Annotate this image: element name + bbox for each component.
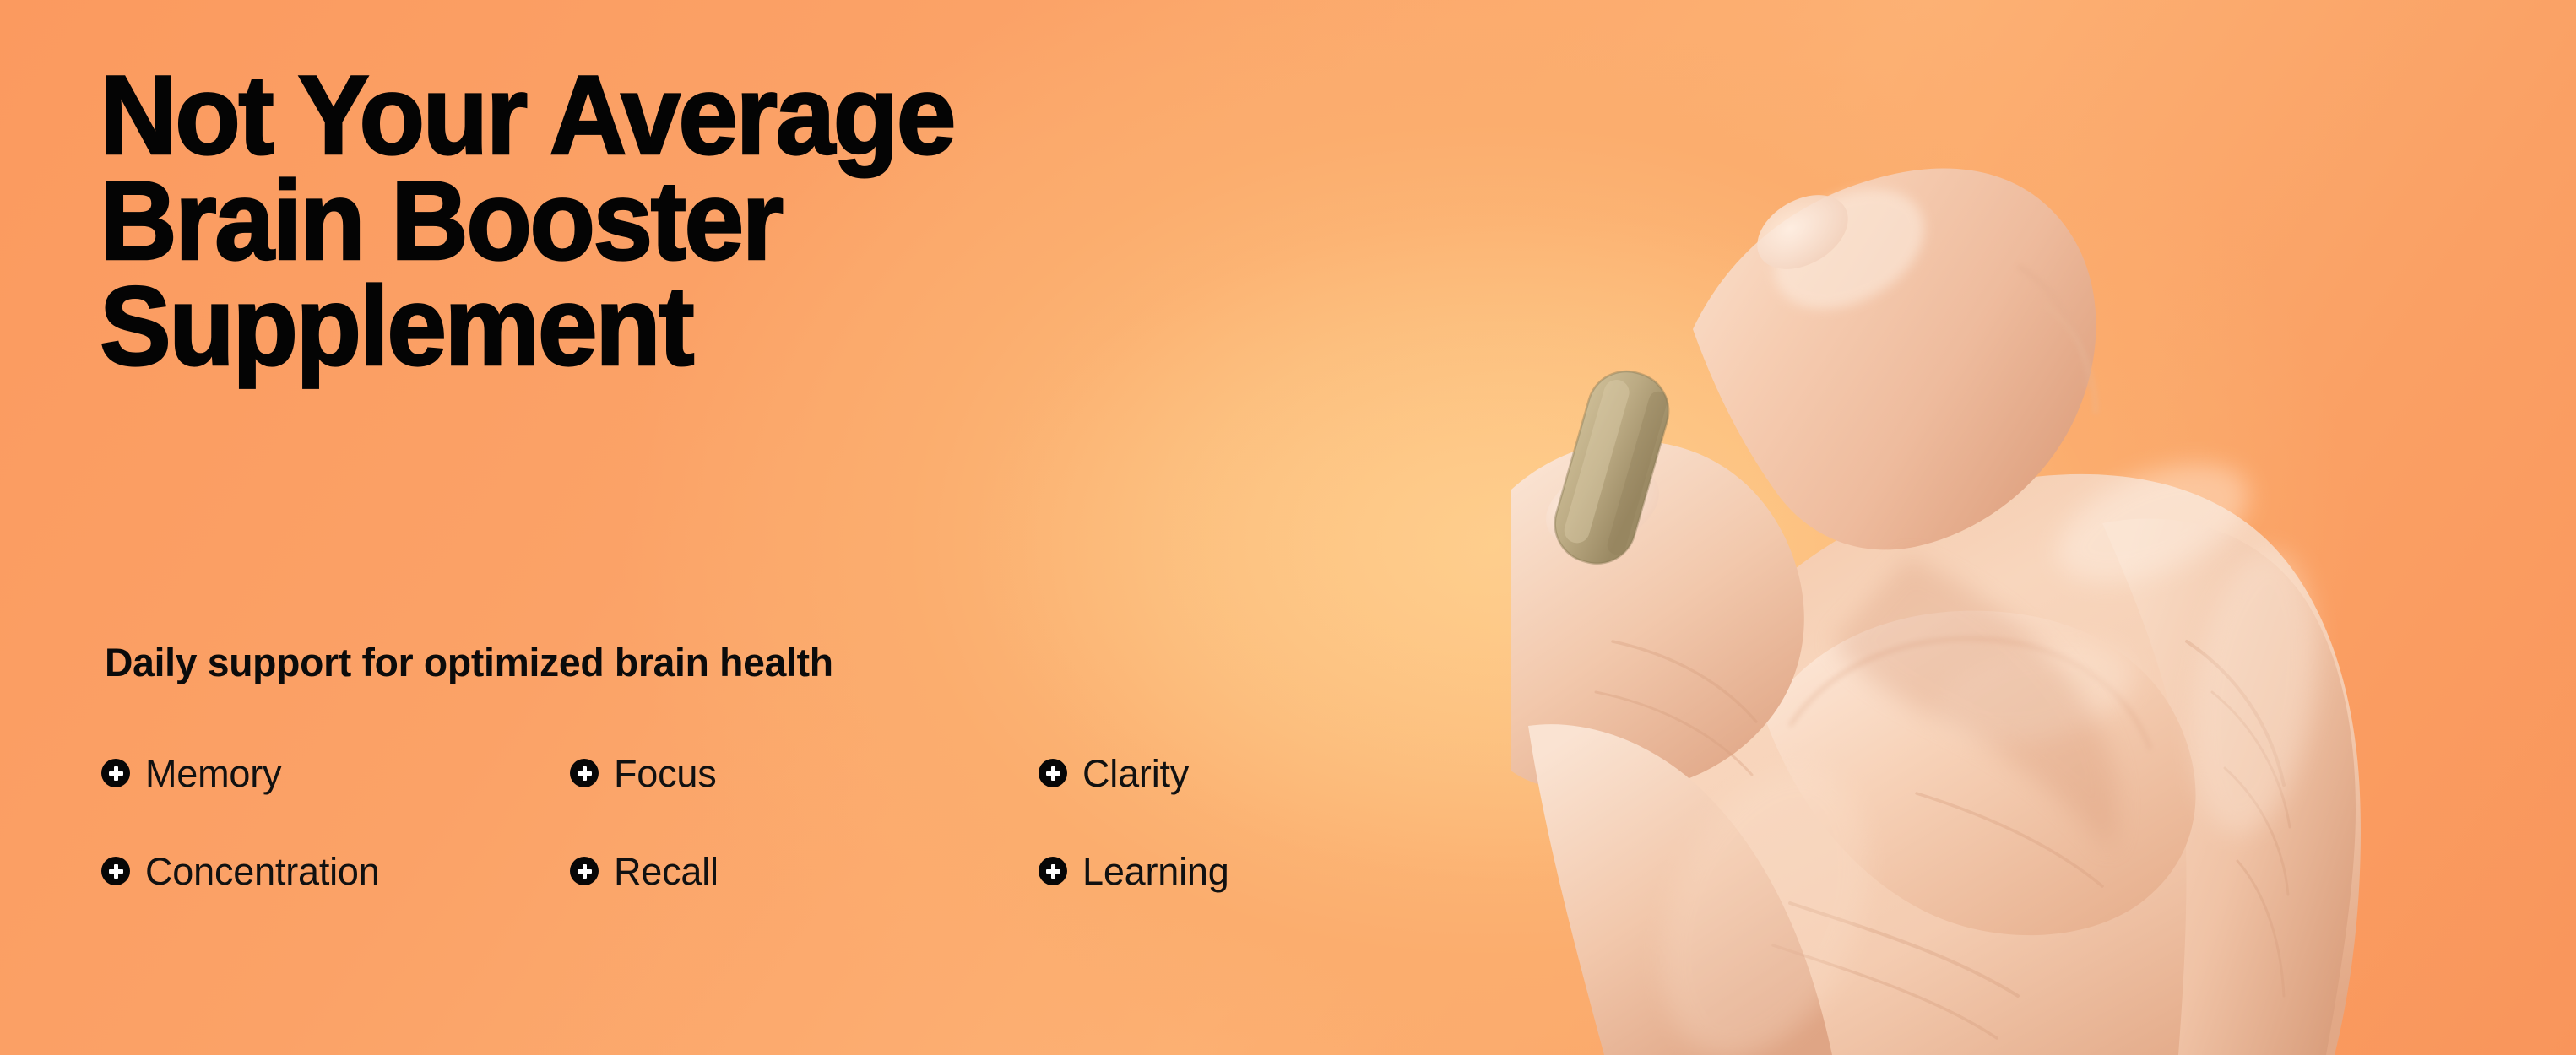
plus-circle-icon (570, 759, 599, 787)
hand-holding-capsule-photo (1511, 51, 2389, 1055)
feature-item-memory: Memory (101, 749, 570, 797)
feature-item-learning: Learning (1039, 847, 1368, 895)
feature-list: Memory Focus Clarity Concentration Recal… (101, 749, 1368, 945)
feature-label: Learning (1082, 852, 1229, 890)
hero-banner: Not Your Average Brain Booster Supplemen… (0, 0, 2576, 1055)
plus-circle-icon (101, 759, 130, 787)
plus-circle-icon (570, 857, 599, 885)
headline-line-2: Brain Booster (100, 169, 1349, 274)
feature-item-recall: Recall (570, 847, 1039, 895)
headline-line-3: Supplement (100, 274, 1349, 380)
plus-circle-icon (1039, 857, 1067, 885)
hero-text-block: Not Your Average Brain Booster Supplemen… (0, 0, 1435, 1055)
page-title: Not Your Average Brain Booster Supplemen… (100, 63, 1349, 380)
feature-item-focus: Focus (570, 749, 1039, 797)
feature-label: Concentration (145, 852, 380, 890)
feature-item-concentration: Concentration (101, 847, 570, 895)
feature-label: Recall (614, 852, 719, 890)
plus-circle-icon (1039, 759, 1067, 787)
feature-item-clarity: Clarity (1039, 749, 1368, 797)
headline-line-1: Not Your Average (100, 63, 1349, 169)
plus-circle-icon (101, 857, 130, 885)
subheadline: Daily support for optimized brain health (105, 639, 833, 685)
feature-label: Focus (614, 755, 717, 793)
feature-label: Clarity (1082, 755, 1189, 793)
feature-label: Memory (145, 755, 281, 793)
